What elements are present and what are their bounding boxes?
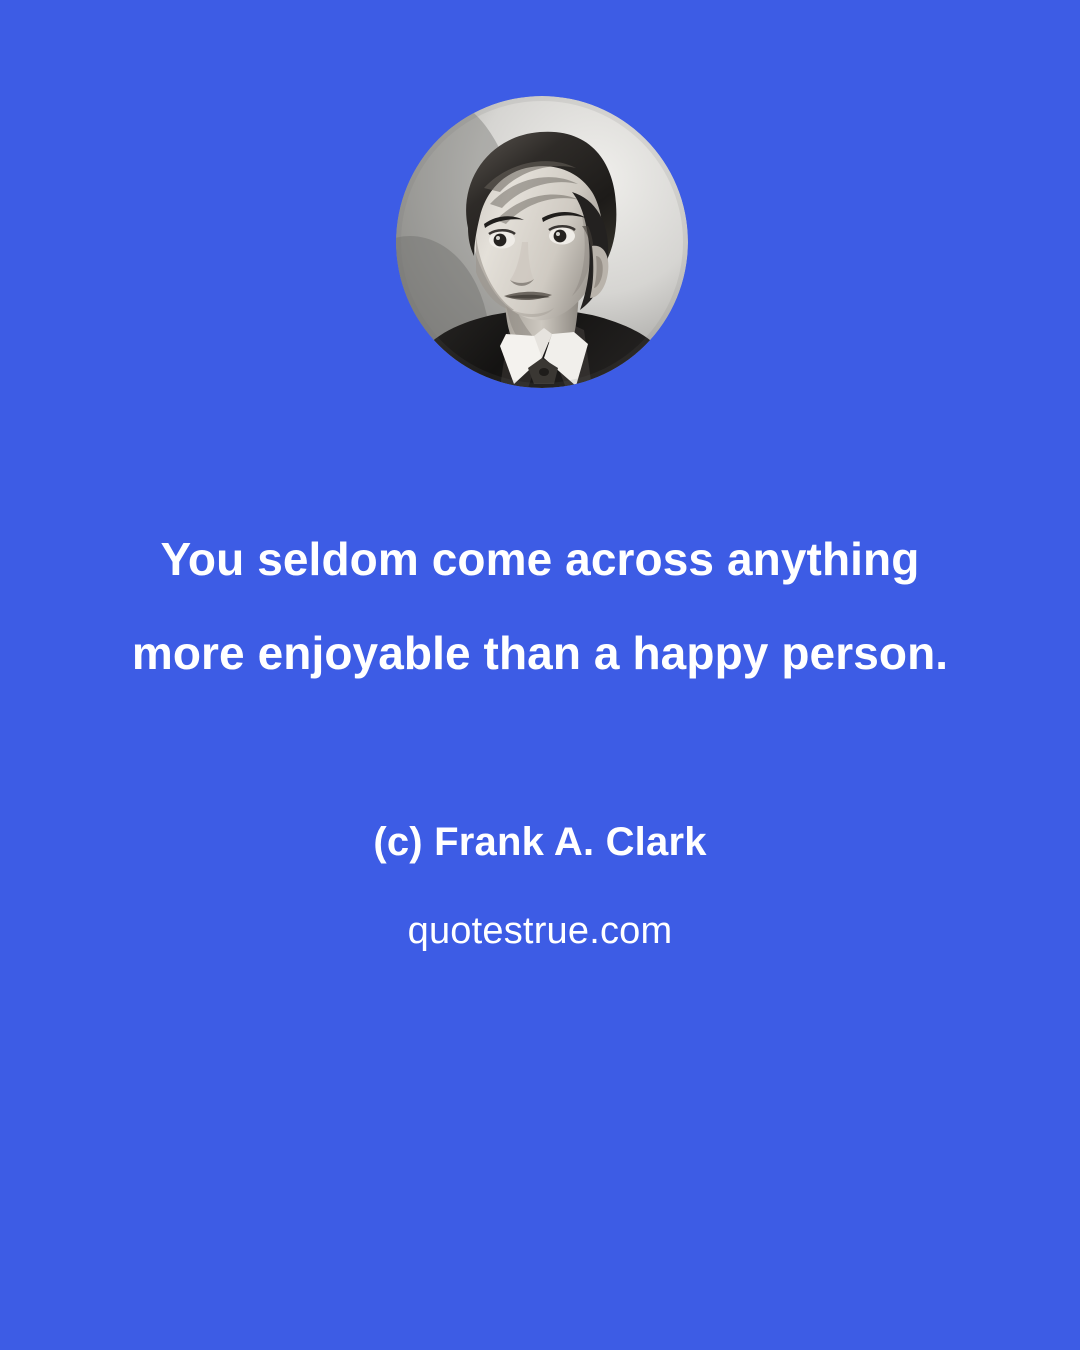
site-name: quotestrue.com — [0, 908, 1080, 954]
author-portrait — [396, 96, 688, 388]
author-attribution: (c) Frank A. Clark — [0, 818, 1080, 866]
author-portrait-photo — [396, 96, 688, 388]
quote-line-2: more enjoyable than a happy person. — [60, 606, 1020, 700]
quote-line-1: You seldom come across anything — [60, 512, 1020, 606]
quote-card: You seldom come across anything more enj… — [0, 0, 1080, 1350]
quote-text: You seldom come across anything more enj… — [0, 512, 1080, 700]
